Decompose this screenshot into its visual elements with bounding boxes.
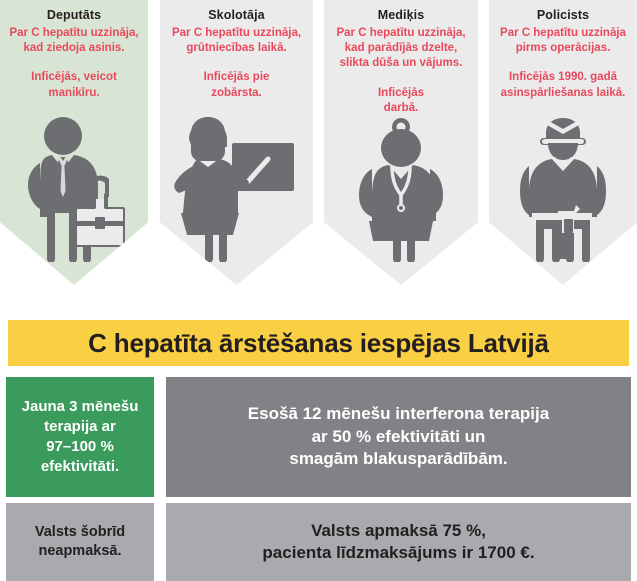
treatment-comparison-grid: Jauna 3 mēnešuterapija ar97–100 %efektiv… [0, 377, 637, 581]
persona-how-learned: Par C hepatītu uzzinājapirms operācijas. [489, 26, 637, 56]
policeman-with-cap-icon [489, 112, 637, 262]
new-therapy-cost-cell: Valsts šobrīdneapmaksā. [6, 503, 154, 581]
new-therapy-cost-text: Valsts šobrīdneapmaksā. [29, 523, 131, 561]
persona-card-policists: Policists Par C hepatītu uzzinājapirms o… [489, 0, 637, 285]
teacher-with-pointer-icon [160, 112, 313, 262]
persona-how-learned: Par C hepatītu uzzināja,kad ziedoja asin… [0, 26, 148, 56]
persona-how-learned: Par C hepatītu uzzināja,grūtniecības lai… [160, 26, 313, 56]
businessman-with-briefcase-icon [0, 112, 148, 262]
existing-therapy-cost-cell: Valsts apmaksā 75 %,pacienta līdzmaksāju… [166, 503, 631, 581]
persona-title: Skolotāja [160, 0, 313, 22]
existing-therapy-cell: Esošā 12 mēnešu interferona terapijaar 5… [166, 377, 631, 497]
persona-title: Policists [489, 0, 637, 22]
new-therapy-text: Jauna 3 mēnešuterapija ar97–100 %efektiv… [16, 397, 145, 476]
persona-how-infected: Inficējās 1990. gadāasinspārliešanas lai… [489, 70, 637, 100]
page-title: C hepatīta ārstēšanas iespējas Latvijā [88, 328, 549, 359]
main-title-banner: C hepatīta ārstēšanas iespējas Latvijā [8, 320, 629, 366]
new-therapy-cell: Jauna 3 mēnešuterapija ar97–100 %efektiv… [6, 377, 154, 497]
persona-how-learned: Par C hepatītu uzzināja,kad parādījās dz… [324, 26, 478, 72]
persona-card-skolotaja: Skolotāja Par C hepatītu uzzināja,grūtni… [160, 0, 313, 285]
persona-title: Mediķis [324, 0, 478, 22]
persona-card-deputats: Deputāts Par C hepatītu uzzināja,kad zie… [0, 0, 148, 285]
existing-therapy-cost-text: Valsts apmaksā 75 %,pacienta līdzmaksāju… [252, 520, 544, 565]
existing-therapy-text: Esošā 12 mēnešu interferona terapijaar 5… [238, 403, 559, 470]
persona-columns: Deputāts Par C hepatītu uzzināja,kad zie… [0, 0, 637, 300]
persona-title: Deputāts [0, 0, 148, 22]
hepatitis-c-infographic: Deputāts Par C hepatītu uzzināja,kad zie… [0, 0, 637, 581]
persona-how-infected: Inficējās piezobārsta. [160, 70, 313, 100]
persona-card-medikis: Mediķis Par C hepatītu uzzināja,kad parā… [324, 0, 478, 285]
doctor-with-stethoscope-icon [324, 112, 478, 262]
persona-how-infected: Inficējās, veicotmanikīru. [0, 70, 148, 100]
